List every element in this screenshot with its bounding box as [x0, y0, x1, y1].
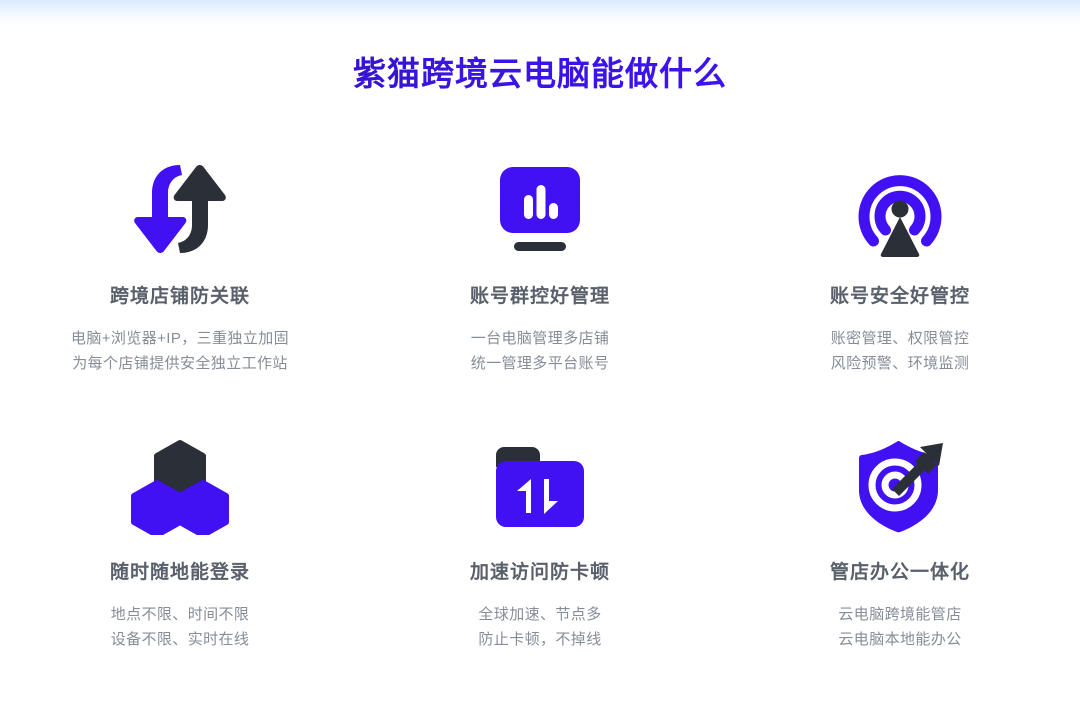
feature-grid: 跨境店铺防关联 电脑+浏览器+IP，三重独立加固 为每个店铺提供安全独立工作站 … [0, 154, 1080, 698]
feature-desc-line: 防止卡顿，不掉线 [478, 627, 601, 652]
feature-desc-line: 为每个店铺提供安全独立工作站 [71, 351, 289, 376]
feature-title: 管店办公一体化 [830, 560, 970, 586]
page-title: 紫猫跨境云电脑能做什么 [0, 52, 1080, 96]
feature-card-5[interactable]: 加速访问防卡顿 全球加速、节点多 防止卡顿，不掉线 [360, 426, 720, 698]
monitor-bar-chart-icon [480, 154, 600, 264]
hexagon-cluster-icon [120, 430, 240, 540]
feature-description: 全球加速、节点多 防止卡顿，不掉线 [478, 602, 601, 652]
feature-desc-line: 全球加速、节点多 [478, 602, 601, 627]
feature-card-4[interactable]: 随时随地能登录 地点不限、时间不限 设备不限、实时在线 [0, 426, 360, 698]
feature-section: 紫猫跨境云电脑能做什么 跨境店铺防关联 电脑+浏览器+IP，三重独立加固 为每个… [0, 0, 1080, 720]
feature-desc-line: 统一管理多平台账号 [471, 351, 610, 376]
feature-card-3: 账号安全好管控 账密管理、权限管控 风险预警、环境监测 [720, 154, 1080, 426]
feature-description: 云电脑跨境能管店 云电脑本地能办公 [838, 602, 961, 652]
feature-desc-line: 账密管理、权限管控 [831, 326, 970, 351]
feature-desc-line: 风险预警、环境监测 [831, 351, 970, 376]
feature-desc-line: 云电脑跨境能管店 [838, 602, 961, 627]
feature-desc-line: 设备不限、实时在线 [111, 627, 250, 652]
folder-transfer-icon [480, 430, 600, 540]
transfer-arrows-icon [120, 154, 240, 264]
feature-desc-line: 地点不限、时间不限 [111, 602, 250, 627]
feature-description: 账密管理、权限管控 风险预警、环境监测 [831, 326, 970, 376]
feature-card-6[interactable]: 管店办公一体化 云电脑跨境能管店 云电脑本地能办公 [720, 426, 1080, 698]
feature-description: 电脑+浏览器+IP，三重独立加固 为每个店铺提供安全独立工作站 [71, 326, 289, 376]
feature-desc-line: 云电脑本地能办公 [838, 627, 961, 652]
broadcast-tower-icon [840, 154, 960, 264]
feature-description: 地点不限、时间不限 设备不限、实时在线 [111, 602, 250, 652]
shield-target-dart-icon [840, 430, 960, 540]
feature-card-1[interactable]: 跨境店铺防关联 电脑+浏览器+IP，三重独立加固 为每个店铺提供安全独立工作站 [0, 154, 360, 426]
feature-desc-line: 电脑+浏览器+IP，三重独立加固 [71, 326, 289, 351]
feature-card-2[interactable]: 账号群控好管理 一台电脑管理多店铺 统一管理多平台账号 [360, 154, 720, 426]
feature-title: 随时随地能登录 [110, 560, 250, 586]
feature-title: 账号安全好管控 [830, 284, 970, 310]
feature-title: 账号群控好管理 [470, 284, 610, 310]
feature-title: 加速访问防卡顿 [470, 560, 610, 586]
feature-title: 跨境店铺防关联 [110, 284, 250, 310]
feature-description: 一台电脑管理多店铺 统一管理多平台账号 [471, 326, 610, 376]
feature-desc-line: 一台电脑管理多店铺 [471, 326, 610, 351]
